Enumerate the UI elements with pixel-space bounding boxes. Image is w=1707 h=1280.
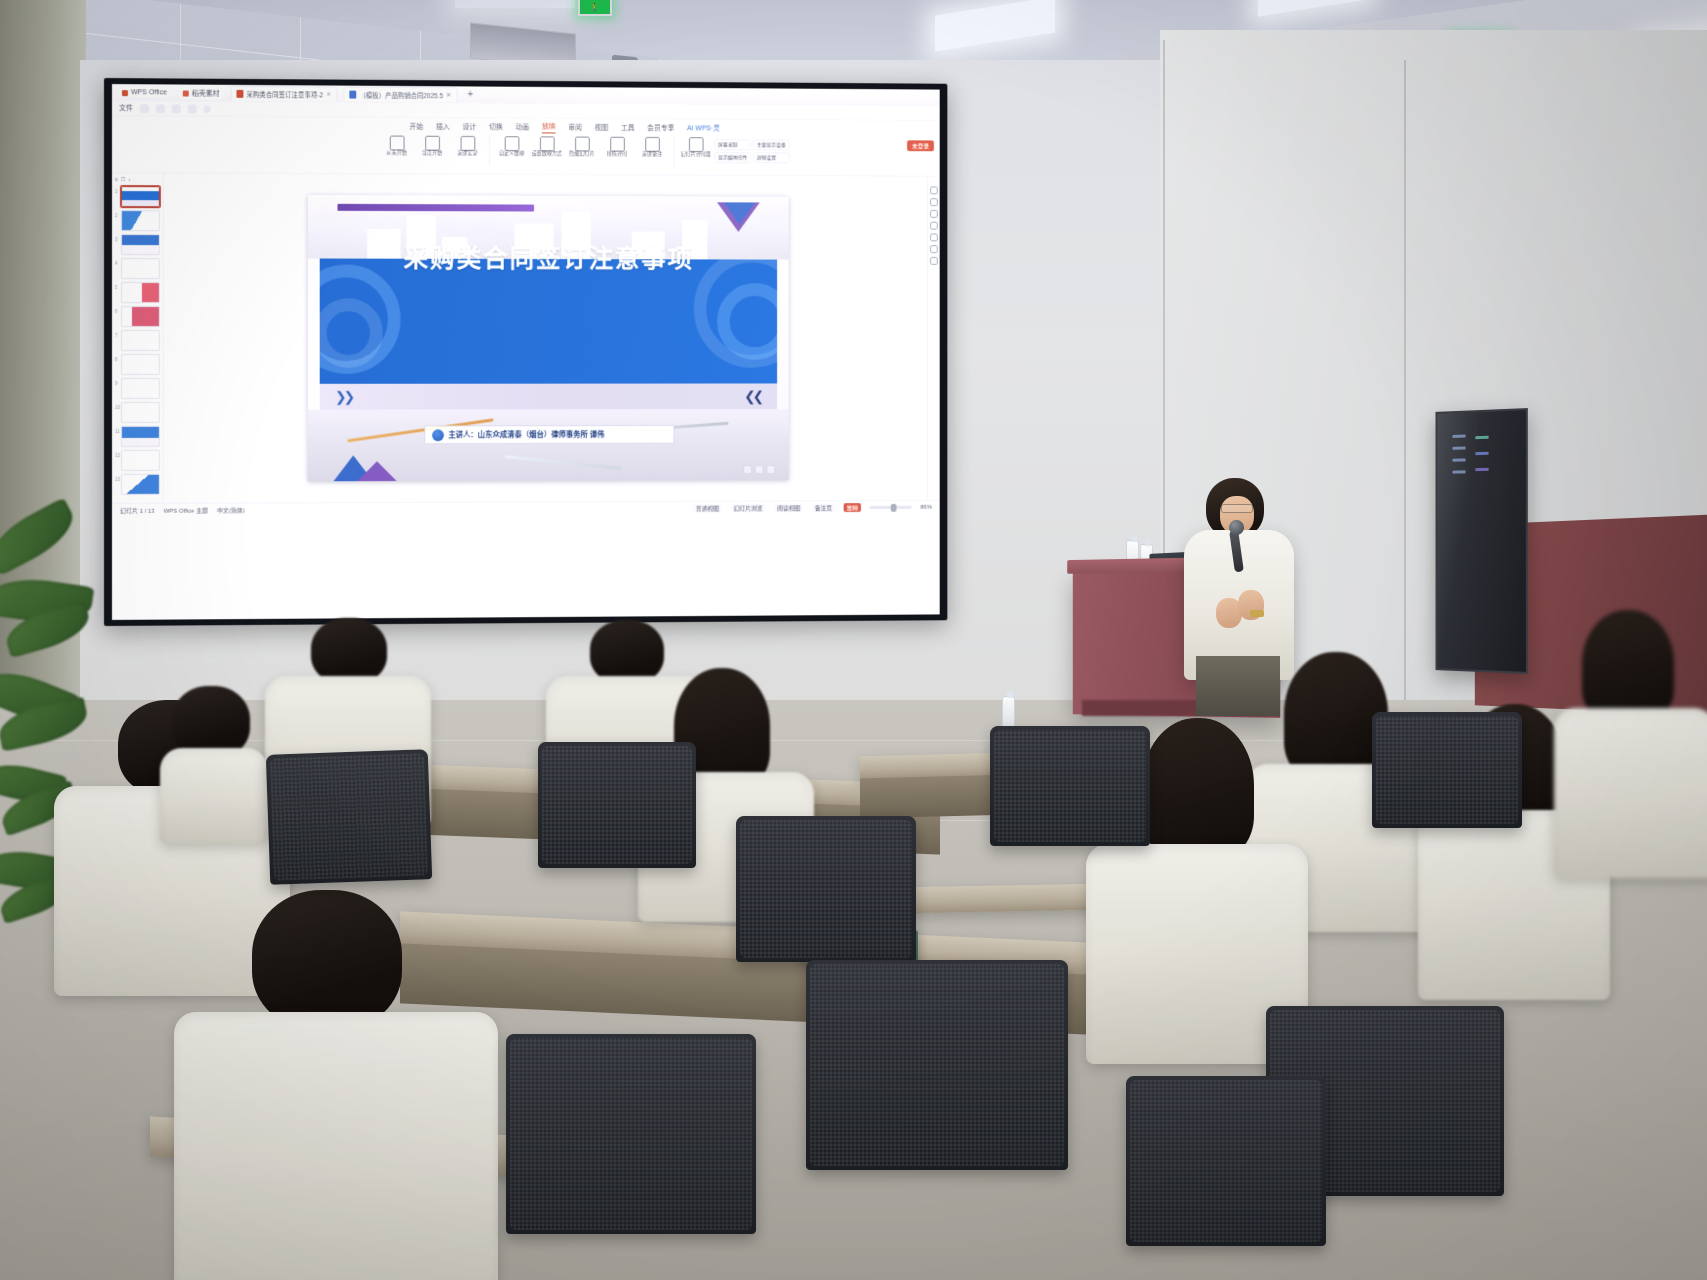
tab-animation[interactable]: 动画	[515, 122, 529, 133]
exit-sign-ceiling: 🚶	[578, 0, 612, 16]
slide-thumbnail[interactable]	[121, 450, 160, 471]
ribbon-wide-show-settings[interactable]: 放映设置	[753, 152, 790, 163]
microphone-head	[1229, 520, 1244, 535]
ribbon-divider	[673, 137, 674, 167]
tab-tools[interactable]: 工具	[621, 123, 635, 134]
tab-view[interactable]: 视图	[595, 123, 609, 134]
tab-start[interactable]: 开始	[409, 122, 423, 133]
corner-button[interactable]	[766, 465, 775, 474]
slide-number: 7	[115, 330, 119, 338]
slide-number: 9	[115, 378, 119, 386]
slide-number: 13	[115, 474, 119, 482]
slide-chevron-decoration-2	[723, 202, 754, 224]
slide-number: 11	[115, 426, 119, 434]
slide-number: 8	[115, 354, 119, 362]
tab-member[interactable]: 会员专享	[647, 123, 674, 134]
document-tab-2[interactable]: （模板）产品购销合同2025.5 ✕	[344, 87, 458, 103]
slide-thumb-item[interactable]: 5	[115, 282, 160, 303]
comment-icon[interactable]	[930, 245, 938, 253]
close-icon[interactable]: ✕	[446, 91, 452, 99]
chair	[736, 816, 916, 962]
status-template[interactable]: WPS Office 主题	[164, 506, 208, 515]
play-current-icon	[425, 136, 440, 151]
timer-icon	[688, 137, 703, 152]
chair	[266, 749, 432, 885]
selection-pane-icon[interactable]	[930, 233, 938, 241]
slide-thumb-item[interactable]: 13	[115, 474, 160, 495]
ribbon-button-timer[interactable]: 幻灯片计时器	[679, 137, 712, 159]
presenter-avatar-icon	[432, 429, 444, 441]
slide-thumb-item[interactable]: 10	[115, 402, 160, 423]
slide-thumb-item[interactable]: 12	[115, 450, 160, 471]
ribbon-wide-screen-record[interactable]: 屏幕录制	[714, 139, 751, 150]
ribbon-button-label: 排练计时	[607, 153, 627, 159]
wps-logo-icon	[122, 90, 128, 96]
document-tab-1-label: 采购类合同签订注意事项-2	[246, 89, 323, 99]
record-icon	[460, 136, 475, 151]
wristwatch	[1250, 610, 1264, 617]
corner-button[interactable]	[743, 465, 752, 474]
slide-mid-strip: ❯❯ ❮❮	[319, 383, 776, 409]
slide-title-band	[319, 259, 776, 384]
slide-presenter-box: 主讲人：山东众成清泰（烟台）律师事务所 谭伟	[424, 425, 674, 444]
attendee-foreground	[190, 890, 480, 1280]
ribbon-button-label: 幻灯片计时器	[681, 153, 711, 159]
undo-icon[interactable]	[172, 104, 181, 113]
exit-sign-glyph: 🚶	[590, 3, 601, 12]
tab-slideshow[interactable]: 放映	[542, 122, 556, 134]
slide-thumb-item[interactable]: 2	[115, 210, 160, 231]
ceiling-light	[455, 0, 575, 8]
slide-number: 2	[115, 210, 119, 218]
ribbon-toolbar: 从头开始 当页开始 演讲实录 自定义放映 设置放映方式	[112, 131, 940, 177]
save-icon[interactable]	[140, 104, 149, 113]
slide-panel-header: ≡ ☐ ›	[115, 177, 160, 183]
slide-thumbnail[interactable]	[121, 282, 160, 303]
glasses-icon	[1221, 504, 1253, 513]
tab-ai[interactable]: AI WPS·灵	[687, 123, 720, 134]
slide-thumb-item[interactable]: 11	[115, 426, 160, 447]
share-icon[interactable]	[930, 257, 938, 265]
wps-app-name: WPS Office	[131, 89, 167, 96]
ribbon-button-rehearse[interactable]: 排练计时	[600, 137, 633, 159]
ribbon-button-custom-show[interactable]: 自定义放映	[495, 136, 528, 158]
chevron-left-icon: ❮❮	[744, 388, 761, 405]
ribbon-wide-main-display[interactable]: 主要显示设备	[753, 139, 790, 150]
ribbon-button-play-current[interactable]: 当页开始	[415, 136, 448, 158]
ribbon-button-label: 自定义放映	[499, 152, 524, 158]
slide-number: 1	[115, 186, 119, 194]
slide-thumb-item[interactable]: 4	[115, 258, 160, 279]
ribbon-button-label: 当页开始	[422, 152, 442, 158]
slide-thumb-item[interactable]: 9	[115, 378, 160, 399]
ribbon-button-label: 演讲实录	[457, 152, 477, 158]
attendee	[1560, 610, 1707, 860]
view-reading-button[interactable]: 阅读视图	[774, 503, 803, 512]
ribbon-button-label: 演讲备注	[642, 153, 662, 159]
slide-thumbnail[interactable]	[121, 402, 160, 423]
animation-pane-icon[interactable]	[930, 222, 938, 230]
slide-thumbnail[interactable]	[121, 378, 160, 399]
slide-number: 3	[115, 234, 119, 242]
wps-office-window[interactable]: WPS Office 稻壳素材 采购类合同签订注意事项-2 ✕ （模板）产品购销…	[112, 84, 940, 620]
slide-thumb-item[interactable]: 3	[115, 234, 160, 255]
ribbon-wide-group: 屏幕录制 显示媒体控件	[714, 137, 751, 163]
chair	[1372, 712, 1522, 828]
slide-number: 12	[115, 450, 119, 458]
ribbon-button-label: 设置放映方式	[532, 152, 562, 158]
ribbon-divider	[489, 136, 490, 166]
status-slide-indicator: 幻灯片 1 / 13	[120, 506, 155, 515]
ppt-file-icon	[237, 90, 244, 98]
slide-thumbnail[interactable]	[121, 426, 160, 447]
format-pane-icon[interactable]	[930, 210, 938, 218]
ribbon-button-hide-slide[interactable]: 隐藏幻灯片	[565, 137, 598, 159]
notes-icon	[645, 137, 660, 152]
chevron-right-icon: ❯❯	[335, 388, 352, 405]
chair	[990, 726, 1150, 846]
current-slide[interactable]: 采购类合同签订注意事项 ❯❯ ❮❮	[307, 195, 788, 482]
design-ideas-icon[interactable]	[930, 186, 938, 194]
ribbon-button-notes[interactable]: 演讲备注	[636, 137, 669, 159]
slide-number: 10	[115, 402, 119, 410]
ribbon-wide-media-controls[interactable]: 显示媒体控件	[714, 152, 751, 163]
projection-screen: WPS Office 稻壳素材 采购类合同签订注意事项-2 ✕ （模板）产品购销…	[104, 78, 947, 626]
server-rack	[1436, 408, 1528, 674]
zoom-slider[interactable]	[870, 506, 912, 509]
ribbon-button-record[interactable]: 演讲实录	[451, 136, 484, 158]
tab-design[interactable]: 设计	[463, 122, 477, 133]
setup-show-icon	[539, 136, 554, 151]
slide-thumbnail[interactable]	[121, 210, 160, 231]
chair	[806, 960, 1068, 1170]
file-menu-button[interactable]: 文件	[119, 103, 133, 113]
tab-review[interactable]: 审阅	[568, 123, 582, 134]
chair	[506, 1034, 756, 1234]
conference-room-photo: 🚶← 🚶 WPS Office 稻壳素材	[0, 0, 1707, 1280]
slide-thumbnail[interactable]	[121, 330, 160, 351]
play-from-start-icon	[389, 136, 404, 151]
slide-thumb-item[interactable]: 6	[115, 306, 160, 327]
decor-triangle-2	[357, 461, 396, 481]
slide-corner-controls[interactable]	[743, 465, 775, 474]
document-tab-1[interactable]: 采购类合同签订注意事项-2 ✕	[231, 86, 338, 102]
wps-app-chip[interactable]: WPS Office	[117, 88, 172, 97]
outline-icon[interactable]: ≡	[115, 177, 118, 183]
attendee	[160, 686, 270, 836]
slide-number: 5	[115, 282, 119, 290]
slide-canvas[interactable]: 采购类合同签订注意事项 ❯❯ ❮❮	[164, 173, 927, 503]
docer-label: 稻壳素材	[192, 88, 220, 98]
doc-file-icon	[350, 91, 357, 99]
slide-thumb-item[interactable]: 8	[115, 354, 160, 375]
slide-number: 6	[115, 306, 119, 314]
start-slideshow-button[interactable]: 放映	[844, 503, 861, 512]
login-button[interactable]: 未登录	[907, 140, 934, 151]
hide-slide-icon	[575, 137, 590, 152]
slide-thumb-item[interactable]: 7	[115, 330, 160, 351]
redo-icon[interactable]	[188, 104, 197, 113]
slide-presenter-line: 主讲人：山东众成清泰（烟台）律师事务所 谭伟	[448, 429, 604, 440]
right-side-rail[interactable]	[927, 177, 939, 500]
grid-icon[interactable]: ☐	[121, 177, 125, 183]
slide-bottom-photo	[307, 409, 788, 481]
view-sorter-button[interactable]: 幻灯片浏览	[731, 503, 766, 512]
ribbon-button-label: 从头开始	[386, 151, 406, 157]
slide-thumbnail[interactable]	[121, 306, 160, 327]
docer-chip[interactable]: 稻壳素材	[178, 87, 225, 99]
materials-icon[interactable]	[930, 198, 938, 206]
ribbon-button-play-from-start[interactable]: 从头开始	[380, 136, 413, 158]
ribbon-button-label: 隐藏幻灯片	[569, 152, 594, 158]
slide-thumb-item[interactable]: 1	[115, 186, 160, 207]
tab-insert[interactable]: 插入	[436, 122, 450, 133]
decor-ring	[319, 298, 382, 368]
chair	[1126, 1076, 1326, 1246]
tab-transition[interactable]: 切换	[489, 122, 503, 133]
water-bottle-desk	[1002, 696, 1015, 730]
slide-thumbnail-panel[interactable]: ≡ ☐ › 1 2 3	[112, 173, 164, 503]
view-normal-button[interactable]: 普通视图	[693, 504, 722, 513]
ribbon-button-setup-show[interactable]: 设置放映方式	[530, 136, 563, 158]
chevron-down-icon[interactable]	[204, 105, 211, 112]
rehearse-icon	[610, 137, 625, 152]
ribbon-wide-group-2: 主要显示设备 放映设置	[753, 138, 790, 164]
wps-main-area: ≡ ☐ › 1 2 3	[112, 173, 940, 503]
slide-thumbnail[interactable]	[121, 474, 160, 495]
slide-title: 采购类合同签订注意事项	[307, 239, 788, 276]
slide-thumbnail[interactable]	[121, 354, 160, 375]
custom-show-icon	[504, 136, 519, 151]
slide-accent-bar	[337, 204, 534, 212]
print-icon[interactable]	[156, 104, 165, 113]
document-tab-2-label: （模板）产品购销合同2025.5	[359, 90, 443, 100]
slide-number: 4	[115, 258, 119, 266]
slide-thumbnail[interactable]	[121, 186, 160, 207]
corner-button[interactable]	[754, 465, 763, 474]
new-tab-button[interactable]: +	[463, 89, 477, 100]
status-language[interactable]: 中文(简体)	[217, 505, 245, 514]
view-notes-button[interactable]: 备注页	[812, 503, 835, 512]
slide-thumbnail[interactable]	[121, 258, 160, 279]
zoom-level-label: 86%	[921, 504, 933, 510]
docer-icon	[183, 90, 189, 96]
slide-thumbnail[interactable]	[121, 234, 160, 255]
chair	[538, 742, 696, 868]
chevron-icon[interactable]: ›	[128, 177, 130, 183]
close-icon[interactable]: ✕	[326, 90, 332, 98]
